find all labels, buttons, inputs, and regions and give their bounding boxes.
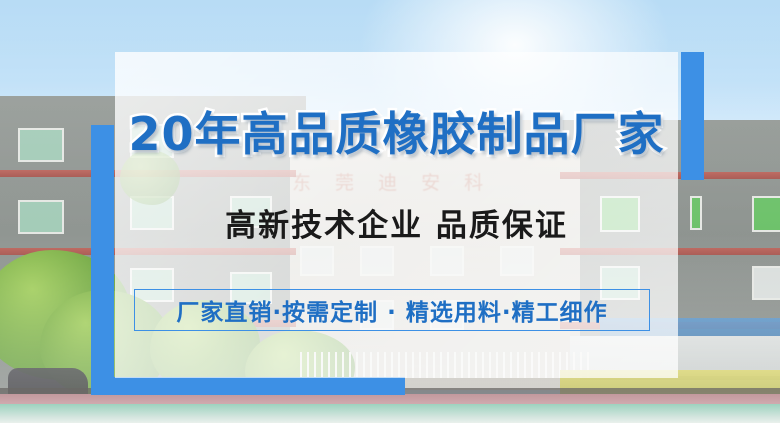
headline-text: 20年高品质橡胶制品厂家 — [115, 98, 678, 164]
decorative-left-blue-bar — [91, 125, 114, 395]
subtitle-text: 高新技术企业 品质保证 — [115, 200, 678, 245]
decorative-bottom-blue-bar — [91, 377, 405, 395]
tagline-text: 厂家直销·按需定制 · 精选用料·精工细作 — [134, 289, 650, 331]
promotional-banner: 东 莞 迪 安 科 — [0, 0, 780, 423]
decorative-right-blue-bar — [681, 52, 704, 180]
